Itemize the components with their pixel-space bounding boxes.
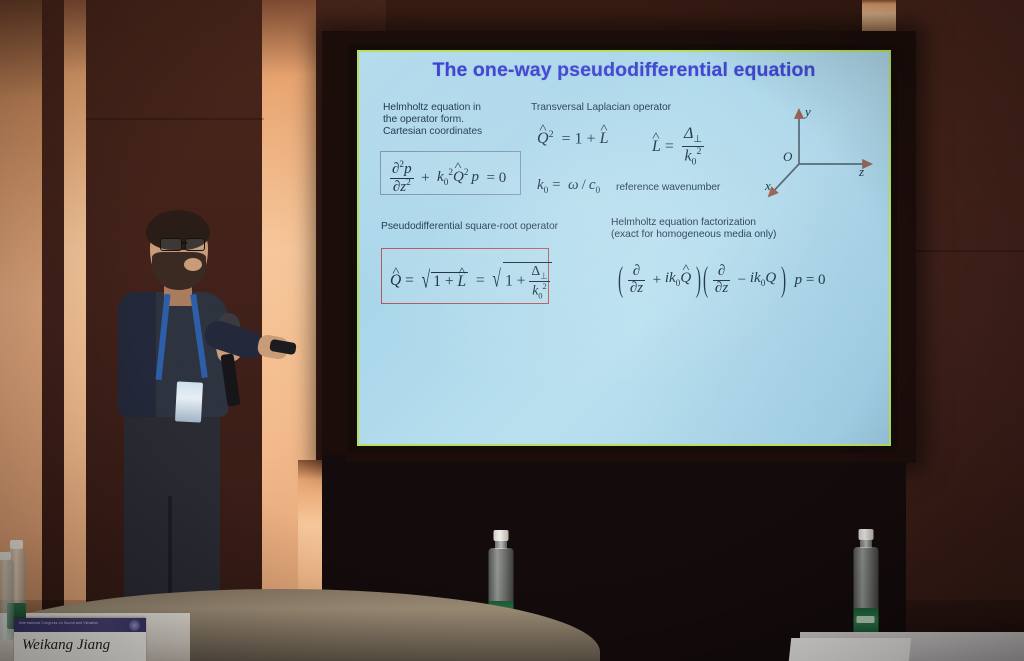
transversal-laplacian-caption: Transversal Laplacian operator	[531, 102, 671, 115]
name-card-name: Weikang Jiang	[14, 632, 146, 654]
organization-logo-icon	[129, 620, 140, 631]
wall-panel-lit-topright	[862, 0, 896, 34]
axis-label-y: y	[805, 104, 811, 120]
presenter-mouth-area	[184, 258, 202, 271]
glasses-right-lens	[185, 238, 205, 251]
left-caption-line-1: Helmholtz equation in	[383, 102, 513, 115]
glasses-bridge	[181, 242, 187, 244]
bottle-label-mark	[857, 616, 875, 623]
reference-wavenumber-caption: reference wavenumber	[616, 182, 720, 195]
wall-panel-dark-1	[42, 0, 66, 661]
axis-label-origin: O	[783, 149, 792, 165]
left-caption-line-3: Cartesian coordinates	[383, 126, 523, 139]
name-card-organization: International Congress on Sound and Vibr…	[19, 621, 98, 625]
name-card-header-band: International Congress on Sound and Vibr…	[14, 618, 146, 632]
helmholtz-equation: ∂2p∂z2 + k02Q2 p = 0	[390, 161, 506, 196]
sqrt-operator-equation: Q = 1 + L = 1 + Δ⊥k02	[390, 262, 552, 300]
coordinate-axes-diagram: y z x O	[767, 100, 877, 210]
name-card: International Congress on Sound and Vibr…	[14, 618, 146, 661]
factorization-caption-line-2: (exact for homogeneous media only)	[611, 229, 776, 242]
right-table-paper	[789, 638, 911, 661]
slide-title: The one-way pseudodifferential equation	[359, 59, 889, 82]
bottle-body	[0, 560, 14, 640]
l-hat-equation: L = Δ⊥k02	[652, 126, 704, 168]
factorization-caption-line-1: Helmholtz equation factorization	[611, 217, 756, 230]
presenter-torso-shading	[118, 292, 156, 417]
axis-label-z: z	[859, 164, 864, 180]
factorization-equation: ( ∂∂z + ik0Q )( ∂∂z − ik0Q ) p = 0	[617, 264, 826, 297]
glasses-left-lens	[160, 238, 182, 251]
presenter-beard	[152, 252, 206, 290]
left-caption-line-2: the operator form.	[383, 114, 513, 127]
q-squared-equation: Q2 = 1 + L	[537, 130, 608, 147]
presenter-badge	[175, 381, 203, 422]
k0-definition-equation: k0 = ω / c0	[537, 178, 600, 196]
presentation-scene: The one-way pseudodifferential equation …	[0, 0, 1024, 661]
bottle-cap	[10, 540, 23, 549]
slide-content: The one-way pseudodifferential equation …	[357, 50, 891, 446]
water-bottle-right	[846, 529, 886, 649]
axis-label-x: x	[765, 178, 771, 194]
bottle-cap	[0, 552, 11, 560]
wall-panel-lit-1	[64, 0, 88, 624]
sqrt-operator-caption: Pseudodifferential square-root operator	[381, 221, 558, 234]
wall-seam-horizontal	[86, 118, 264, 120]
